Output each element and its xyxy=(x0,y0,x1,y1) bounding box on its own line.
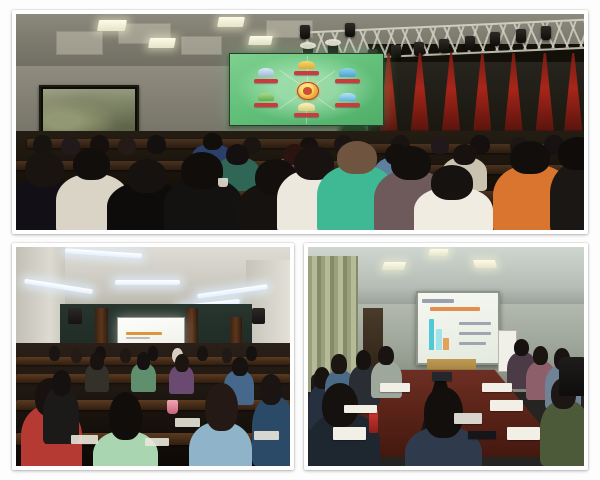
audience-head xyxy=(431,165,474,200)
infographic-node xyxy=(297,60,317,75)
document xyxy=(490,400,523,411)
speaker-head xyxy=(203,133,221,150)
ceiling-light xyxy=(149,38,176,48)
ceiling-light xyxy=(429,249,450,256)
wall-speaker xyxy=(252,308,266,323)
attendee-head xyxy=(49,346,60,361)
notepad xyxy=(333,427,366,440)
desk-unit xyxy=(432,372,451,381)
meeting-room-photo xyxy=(308,247,584,466)
stage-lamp xyxy=(516,29,526,43)
attendee-head xyxy=(424,387,463,437)
slide-bullet-line xyxy=(459,332,491,335)
attendee-head xyxy=(356,350,371,370)
infographic-node xyxy=(256,68,276,83)
ceiling-light-tube xyxy=(115,280,181,285)
photo-frame-meeting-room xyxy=(304,243,588,470)
ceiling-light xyxy=(381,262,405,270)
chart-bar xyxy=(443,338,449,350)
audience-head xyxy=(73,148,110,180)
slide-bullet-line xyxy=(459,322,491,325)
attendee-head xyxy=(260,374,282,405)
attendee-head xyxy=(109,392,142,440)
wall-speaker xyxy=(68,308,82,323)
mobile-phone xyxy=(468,431,496,439)
auditorium-scene xyxy=(16,14,584,230)
stage-lamp xyxy=(541,26,551,40)
chart-bar xyxy=(429,319,435,350)
stage-lamp xyxy=(345,23,355,37)
attendee-head xyxy=(175,354,189,372)
audience-head xyxy=(391,146,431,181)
attendee-head xyxy=(52,370,71,396)
attendee-head xyxy=(205,383,238,431)
attendee-head xyxy=(514,339,529,357)
ceiling-light xyxy=(248,36,272,45)
slide-title-bar xyxy=(422,299,454,303)
conference-microphone xyxy=(454,413,482,424)
stage-lamp xyxy=(490,32,500,46)
audience-head xyxy=(510,141,550,173)
ceiling-light xyxy=(97,20,127,31)
attendee-head xyxy=(71,348,82,363)
document xyxy=(507,427,540,440)
slide-highlight-heading xyxy=(430,307,480,311)
attendee-body xyxy=(540,400,584,466)
photo-frame-classroom xyxy=(12,243,294,470)
projection-screen xyxy=(416,291,500,365)
stage-lamp xyxy=(439,39,449,53)
stage-lamp xyxy=(465,36,475,50)
infographic-node xyxy=(256,92,276,107)
attendee-head xyxy=(137,352,151,370)
ceiling-light xyxy=(473,260,497,268)
audience-head xyxy=(453,144,476,166)
audience-head xyxy=(558,137,584,169)
ceiling-tile xyxy=(181,36,223,55)
projection-screen xyxy=(229,53,384,126)
photo-frame-auditorium xyxy=(12,10,588,234)
attendee-head xyxy=(197,346,208,361)
chart-bar xyxy=(436,329,442,350)
attendee-body xyxy=(371,361,401,398)
audience-head xyxy=(337,141,377,173)
stage-lamp xyxy=(300,25,310,39)
document xyxy=(482,383,512,392)
stage-lamp xyxy=(391,45,401,59)
auditorium-lecture-photo xyxy=(16,14,584,230)
document xyxy=(344,405,377,414)
infographic-node xyxy=(337,68,357,83)
attendee-head xyxy=(331,354,346,374)
classroom-scene xyxy=(16,247,290,466)
notebook xyxy=(254,431,279,440)
ceiling-tile xyxy=(56,31,103,55)
office-chair xyxy=(559,357,584,396)
cup-on-desk xyxy=(218,178,228,187)
photo-collage xyxy=(0,0,600,480)
attendee-head xyxy=(246,346,257,361)
attendee-head xyxy=(90,352,104,370)
audience-head xyxy=(25,152,65,187)
attendee-head xyxy=(232,357,247,377)
document xyxy=(380,383,410,392)
audience-head xyxy=(226,144,249,166)
slide-subtitle-line xyxy=(126,337,150,339)
infographic-node xyxy=(297,102,317,117)
infographic-node xyxy=(337,92,357,107)
infographic-hub-emblem xyxy=(297,82,319,100)
audience-head xyxy=(181,152,224,189)
classroom-lecture-photo xyxy=(16,247,290,466)
audience-head xyxy=(118,137,136,155)
pink-mug xyxy=(167,400,178,414)
attendee-head xyxy=(533,346,548,366)
audience-head xyxy=(431,137,449,154)
notebook xyxy=(145,438,170,447)
stage-lamp xyxy=(414,42,424,56)
attendee-head xyxy=(378,346,393,366)
attendee-head xyxy=(222,348,233,363)
audience-head xyxy=(147,135,166,154)
ceiling-light xyxy=(217,17,244,27)
slide-heading-line xyxy=(126,332,162,335)
notebook xyxy=(175,418,200,427)
notebook xyxy=(71,435,98,444)
slide-bullet-line xyxy=(459,342,486,345)
meeting-room-scene xyxy=(308,247,584,466)
audience-head xyxy=(127,159,167,194)
attendee-head xyxy=(120,348,131,363)
